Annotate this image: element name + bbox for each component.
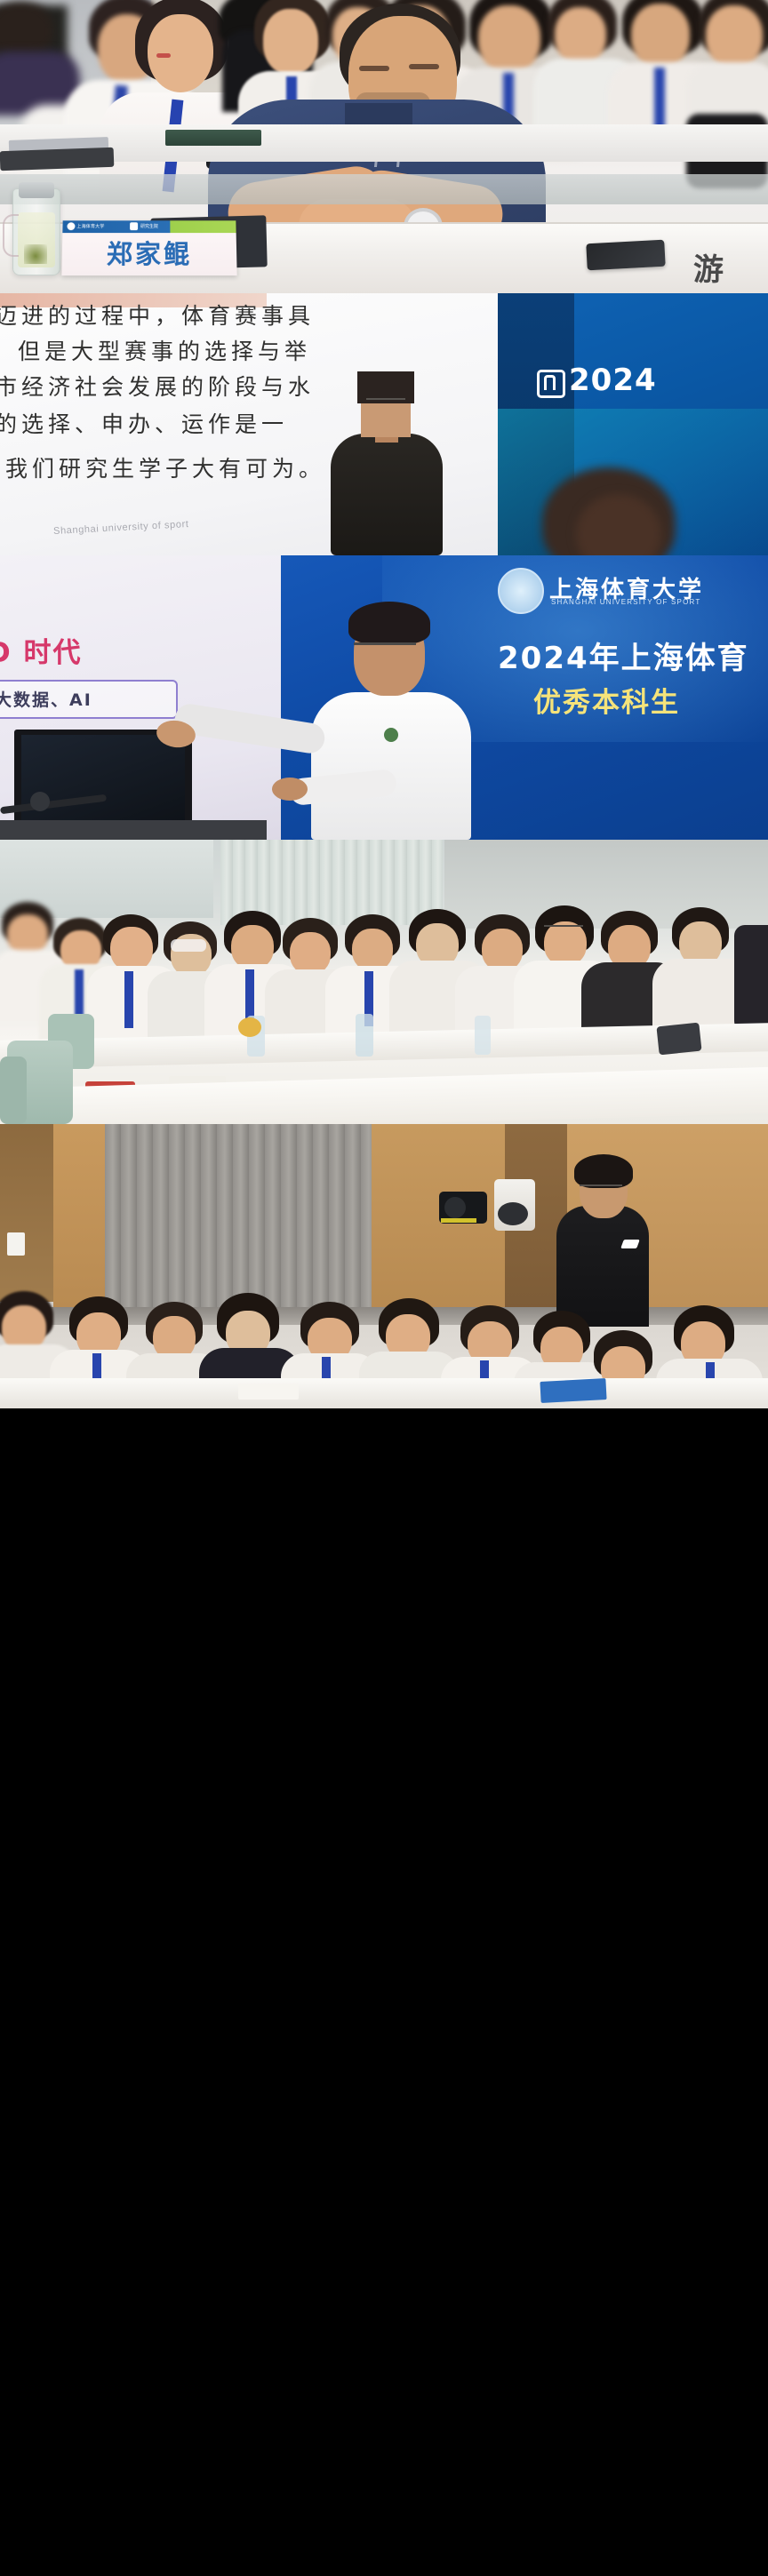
placard-org-primary: 上海体育大学 (76, 223, 104, 229)
student-face (482, 929, 523, 971)
side-placard-text: 游 (693, 245, 724, 289)
panelist-eye (409, 64, 439, 69)
standing-student-hair (574, 1154, 633, 1188)
face-mask (171, 939, 206, 952)
photo-speaker-slide: 迈进的过程中，体育赛事具 ，但是大型赛事的选择与举 市经济社会发展的阶段与水 的… (0, 293, 768, 555)
photo-standing-student (0, 1124, 768, 1408)
audience-face (706, 5, 763, 68)
shirt-logo-icon (620, 1240, 640, 1248)
glass-tea-tumbler (12, 188, 60, 275)
bag (734, 925, 768, 1032)
graduate-school-logo-icon (130, 222, 138, 230)
placard-org-secondary: 研究生院 (140, 223, 158, 229)
camera-label-strip (441, 1218, 476, 1223)
screen-headline: D 时代 (0, 630, 83, 670)
presenter-hair (348, 602, 430, 644)
blue-folder (540, 1378, 606, 1403)
name-placard: 上海体育大学 研究生院 郑家鲲 (61, 220, 236, 275)
photo-classroom-rows (0, 840, 768, 1124)
panelist-eye (359, 66, 389, 71)
audience-face (631, 4, 690, 68)
desk-far (0, 124, 768, 162)
backdrop-university-en: SHANGHAI UNIVERSITY OF SPORT (551, 598, 700, 606)
tablet-base (0, 148, 114, 171)
slide-line-3: 市经济社会发展的阶段与水 (0, 370, 315, 402)
speaker-driver-icon (498, 1202, 528, 1225)
monitor-screen (21, 735, 185, 824)
chair (0, 1057, 27, 1124)
speaker-torso (331, 434, 443, 555)
tumbler-handle (3, 214, 19, 257)
podium (0, 820, 267, 840)
presenter-shirt (311, 692, 471, 840)
light-switch[interactable] (7, 1232, 25, 1256)
placard-name: 郑家鲲 (61, 235, 236, 274)
slide-line-4: 的选择、申办、运作是一 (0, 407, 288, 439)
paper (238, 1384, 299, 1400)
presenter-glasses (354, 642, 416, 655)
smartphone (586, 240, 665, 271)
glasses (544, 925, 583, 937)
orange (238, 1017, 261, 1037)
student-face (290, 932, 331, 975)
photo-strip: 上海体育大学 研究生院 郑家鲲 游 迈进的过程中，体育赛事具 ，但是大型赛事的选… (0, 0, 768, 1408)
screen-pill-text: 大数据、AI (0, 687, 92, 711)
book (165, 130, 261, 146)
projector-icon (537, 370, 565, 398)
grey-curtain (105, 1124, 372, 1312)
tea-leaves (24, 244, 47, 264)
audience-face (478, 5, 540, 73)
water-bottle (475, 1016, 491, 1055)
wood-panel (0, 1124, 53, 1302)
desk-row-front (0, 1378, 768, 1408)
speaker-glasses (366, 398, 405, 408)
audience-lips (156, 53, 171, 58)
student-face (231, 925, 274, 969)
shirt-logo-icon (384, 728, 398, 742)
backdrop-title-line-2: 优秀本科生 (533, 680, 680, 720)
audience-face (263, 9, 318, 75)
tablet (656, 1023, 701, 1056)
camera-lens-icon (444, 1197, 466, 1218)
desk-middle (0, 174, 768, 204)
slide-line-5: 我们研究生学子大有可为。 (5, 451, 325, 483)
presenter-lower-hand (272, 778, 308, 801)
university-emblem-icon (498, 568, 544, 614)
wood-panel (53, 1124, 105, 1307)
audience-face (555, 7, 606, 64)
backdrop-title-line-1: 2024年上海体育 (498, 634, 749, 677)
tumbler-lid (19, 182, 54, 198)
standing-student-torso (556, 1206, 649, 1327)
water-bottle (356, 1014, 373, 1057)
photo-panel-audience: 上海体育大学 研究生院 郑家鲲 游 (0, 0, 768, 293)
student-face (352, 929, 393, 971)
microphone-head-icon (30, 792, 50, 811)
slide-line-1: 迈进的过程中，体育赛事具 (0, 299, 315, 331)
desk-row-front (0, 1067, 768, 1124)
lanyard (124, 971, 133, 1028)
banner-year: 2024 (569, 363, 657, 398)
photo-presenter-screen: D 时代 大数据、AI 上海体育大学 SHANGHAI UNIVERSITY O… (0, 555, 768, 840)
student-face (110, 927, 153, 971)
slide-line-2: ，但是大型赛事的选择与举 (0, 334, 311, 366)
standing-student-glasses (580, 1184, 622, 1194)
